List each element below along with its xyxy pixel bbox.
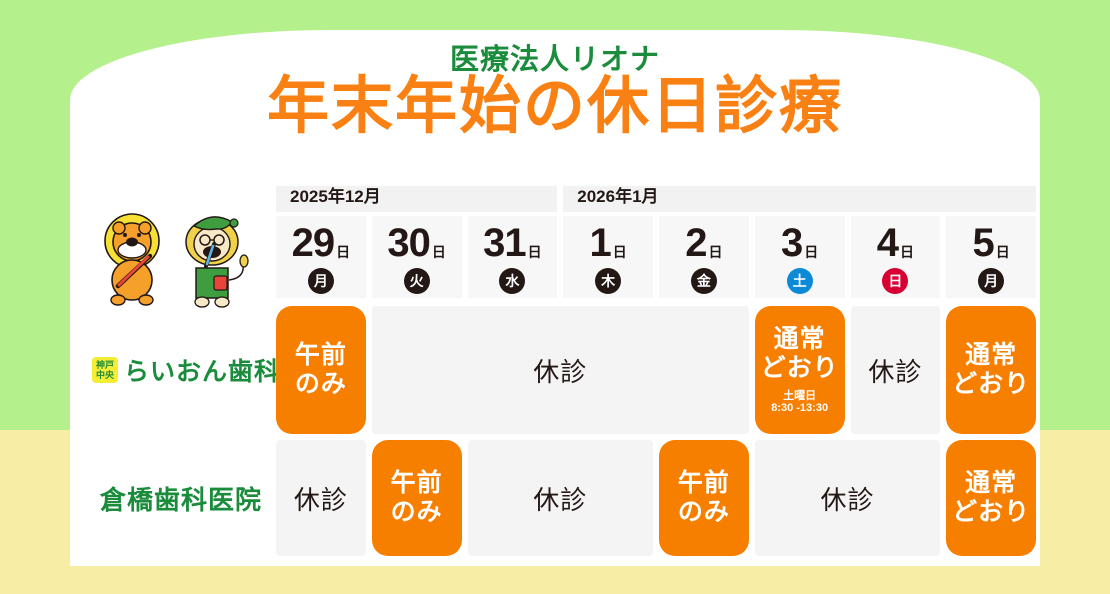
day-header-grid: 29日月30日火31日水1日木2日金3日土4日日5日月 [276, 216, 1036, 298]
schedule-cell-l1: 通常 [965, 341, 1017, 370]
month-segment: 2026年1月 [563, 186, 1036, 212]
day-unit: 日 [613, 245, 627, 259]
schedule-cell-note1: 土曜日 [783, 390, 816, 403]
schedule-cell-l1: 通常 [774, 325, 826, 354]
day-number: 29 [292, 223, 335, 263]
schedule-cell-l1: 休診 [533, 352, 587, 389]
schedule-cell-l1: 午前 [678, 469, 730, 498]
day-unit: 日 [432, 245, 446, 259]
schedule-cell-open: 午前のみ [372, 440, 462, 556]
schedule-cell-l2: のみ [678, 498, 730, 527]
day-header-cell: 29日月 [276, 216, 366, 298]
clinic-label-kurahashi: 倉橋歯科医院 [100, 480, 262, 517]
schedule-cell-open: 午前のみ [659, 440, 749, 556]
schedule-cell-open: 午前のみ [276, 306, 366, 434]
day-header-cell: 30日火 [372, 216, 462, 298]
schedule-cell-l1: 休診 [820, 480, 874, 517]
day-number-row: 30日 [387, 223, 446, 263]
month-label: 2025年12月 [290, 182, 381, 207]
month-bar: 2025年12月2026年1月 [276, 186, 1036, 212]
day-of-week-badge: 土 [787, 268, 813, 294]
day-unit: 日 [996, 245, 1010, 259]
day-header-cell: 31日水 [468, 216, 558, 298]
lion-dentist-mascot [186, 217, 248, 307]
day-number: 1 [590, 223, 611, 263]
schedule-cell-l2: のみ [295, 370, 347, 399]
clinic-name-kurahashi: 倉橋歯科医院 [100, 480, 262, 517]
schedule-cell-l1: 休診 [533, 480, 587, 517]
schedule-cell-closed: 休診 [276, 440, 366, 556]
schedule-cell-closed: 休診 [372, 306, 749, 434]
kobe-chuo-badge: 神戸中央 [92, 357, 118, 383]
day-number-row: 4日 [877, 223, 914, 263]
schedule-cell-open: 通常どおり土曜日8:30 -13:30 [755, 306, 845, 434]
poster-root: 医療法人リオナ 年末年始の休日診療 [0, 0, 1110, 594]
day-number: 4 [877, 223, 898, 263]
month-label: 2026年1月 [577, 182, 658, 207]
lion-with-toothbrush-mascot [105, 214, 159, 305]
schedule-row-kurahashi: 休診午前のみ休診午前のみ休診通常どおり [276, 440, 1036, 556]
day-of-week-badge: 日 [882, 268, 908, 294]
day-of-week-badge: 月 [308, 268, 334, 294]
schedule-cell-l1: 午前 [295, 341, 347, 370]
schedule-cell-note2: 8:30 -13:30 [771, 402, 828, 415]
day-header-cell: 1日木 [563, 216, 653, 298]
clinic-name-raion: らいおん歯科 [124, 352, 280, 388]
day-header-cell: 5日月 [946, 216, 1036, 298]
day-number-row: 29日 [292, 223, 351, 263]
day-number-row: 1日 [590, 223, 627, 263]
day-of-week-badge: 火 [404, 268, 430, 294]
day-of-week-badge: 金 [691, 268, 717, 294]
day-number: 31 [483, 223, 526, 263]
day-unit: 日 [336, 245, 350, 259]
badge-line-1: 神戸 [96, 360, 114, 370]
badge-line-2: 中央 [96, 370, 114, 380]
schedule-cell-open: 通常どおり [946, 440, 1036, 556]
schedule-cell-l2: どおり [761, 354, 839, 383]
mascot-group [88, 208, 268, 308]
day-number-row: 3日 [781, 223, 818, 263]
schedule-cell-l1: 通常 [965, 469, 1017, 498]
schedule-cell-closed: 休診 [851, 306, 941, 434]
day-header-cell: 4日日 [851, 216, 941, 298]
day-unit: 日 [804, 245, 818, 259]
schedule-cell-l2: のみ [391, 498, 443, 527]
day-unit: 日 [709, 245, 723, 259]
day-number-row: 5日 [973, 223, 1010, 263]
day-header-cell: 3日土 [755, 216, 845, 298]
day-header-cell: 2日金 [659, 216, 749, 298]
schedule-cell-l1: 休診 [294, 480, 348, 517]
schedule-cell-open: 通常どおり [946, 306, 1036, 434]
day-number: 2 [685, 223, 706, 263]
mascot-illustrations [88, 208, 268, 308]
schedule-cell-l2: どおり [952, 370, 1030, 399]
schedule-cell-closed: 休診 [468, 440, 654, 556]
day-unit: 日 [528, 245, 542, 259]
schedule-cell-closed: 休診 [755, 440, 941, 556]
day-number-row: 2日 [685, 223, 722, 263]
day-number: 30 [387, 223, 430, 263]
month-segment: 2025年12月 [276, 186, 557, 212]
day-number: 3 [781, 223, 802, 263]
day-of-week-badge: 木 [595, 268, 621, 294]
day-of-week-badge: 月 [978, 268, 1004, 294]
clinic-label-raion: 神戸中央 らいおん歯科 [92, 352, 280, 388]
day-number: 5 [973, 223, 994, 263]
schedule-cell-l1: 午前 [391, 469, 443, 498]
schedule-cell-l2: どおり [952, 498, 1030, 527]
day-of-week-badge: 水 [499, 268, 525, 294]
schedule-cell-l1: 休診 [868, 352, 922, 389]
day-unit: 日 [900, 245, 914, 259]
day-number-row: 31日 [483, 223, 542, 263]
schedule-row-raion: 午前のみ休診通常どおり土曜日8:30 -13:30休診通常どおり [276, 306, 1036, 434]
page-title: 年末年始の休日診療 [0, 76, 1110, 138]
